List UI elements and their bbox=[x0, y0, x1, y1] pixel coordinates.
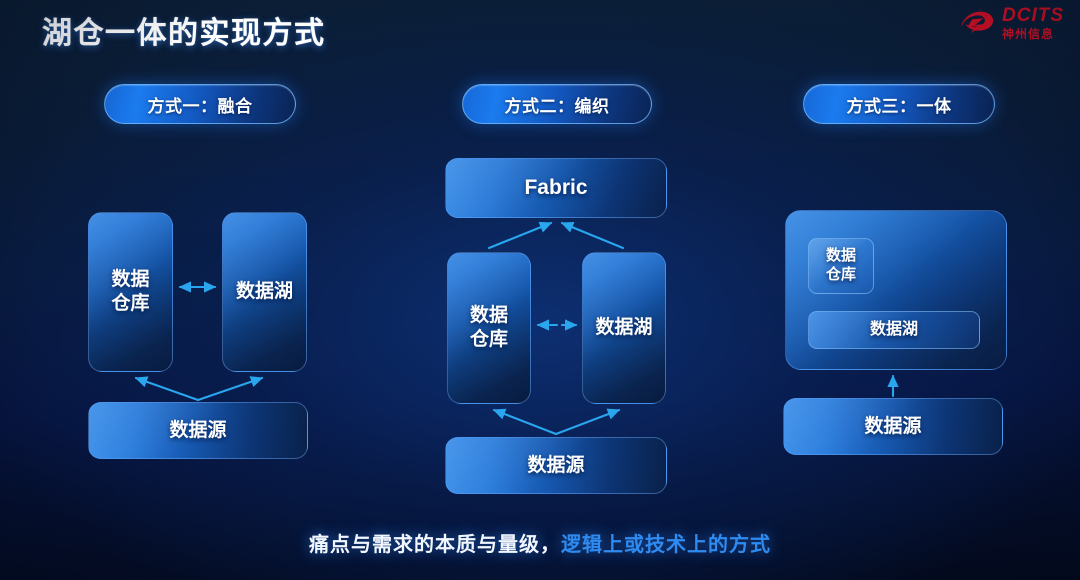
pill-method-3[interactable]: 方式三：一体 bbox=[803, 84, 995, 124]
logo-text-en: DCITS bbox=[1002, 6, 1064, 25]
c1-warehouse-line2: 仓库 bbox=[111, 293, 149, 314]
arrow-c1-source-warehouse bbox=[136, 378, 198, 400]
arrow-c2-warehouse-fabric bbox=[489, 223, 551, 248]
node-c1-data-lake[interactable]: 数据湖 bbox=[222, 212, 307, 372]
arrow-c1-source-lake bbox=[198, 378, 262, 400]
c3-source-label: 数据源 bbox=[864, 415, 921, 439]
footer-segment-blue: 逻辑上或技术上的方式 bbox=[561, 534, 771, 556]
node-c3-data-source[interactable]: 数据源 bbox=[783, 398, 1003, 455]
c2-fabric-label: Fabric bbox=[524, 175, 587, 201]
c3-warehouse-line1: 数据 bbox=[826, 247, 856, 264]
node-c3-data-lake[interactable]: 数据湖 bbox=[808, 311, 980, 349]
node-c1-data-warehouse[interactable]: 数据 仓库 bbox=[88, 212, 173, 372]
node-c2-fabric[interactable]: Fabric bbox=[445, 158, 667, 218]
swoosh-icon bbox=[958, 7, 996, 39]
footer-segment-white: 痛点与需求的本质与量级， bbox=[309, 534, 561, 556]
node-c2-data-warehouse[interactable]: 数据 仓库 bbox=[447, 252, 531, 404]
c1-source-label: 数据源 bbox=[169, 419, 226, 443]
pill-method-2[interactable]: 方式二：编织 bbox=[462, 84, 652, 124]
c1-warehouse-line1: 数据 bbox=[111, 269, 149, 290]
c3-lake-label: 数据湖 bbox=[870, 320, 918, 340]
logo-text-cn: 神州信息 bbox=[1002, 28, 1064, 40]
node-c2-data-lake[interactable]: 数据湖 bbox=[582, 252, 666, 404]
node-c3-data-warehouse[interactable]: 数据 仓库 bbox=[808, 238, 874, 294]
arrow-c2-source-lake bbox=[556, 410, 619, 434]
arrow-c2-source-warehouse bbox=[494, 410, 556, 434]
arrow-c2-lake-fabric bbox=[562, 223, 623, 248]
node-c1-data-source[interactable]: 数据源 bbox=[88, 402, 308, 459]
brand-logo: DCITS 神州信息 bbox=[958, 6, 1064, 40]
page-title: 湖仓一体的实现方式 bbox=[42, 8, 326, 52]
c2-lake-label: 数据湖 bbox=[595, 316, 652, 340]
slide-canvas: 湖仓一体的实现方式 DCITS 神州信息 bbox=[0, 0, 1080, 580]
footer-caption: 痛点与需求的本质与量级，逻辑上或技术上的方式 bbox=[0, 528, 1080, 557]
c2-warehouse-line2: 仓库 bbox=[470, 329, 508, 350]
node-c2-data-source[interactable]: 数据源 bbox=[445, 437, 667, 494]
c1-lake-label: 数据湖 bbox=[236, 280, 293, 304]
c2-source-label: 数据源 bbox=[527, 454, 584, 478]
c3-warehouse-line2: 仓库 bbox=[826, 266, 856, 283]
c2-warehouse-line1: 数据 bbox=[470, 305, 508, 326]
pill-method-1[interactable]: 方式一：融合 bbox=[104, 84, 296, 124]
